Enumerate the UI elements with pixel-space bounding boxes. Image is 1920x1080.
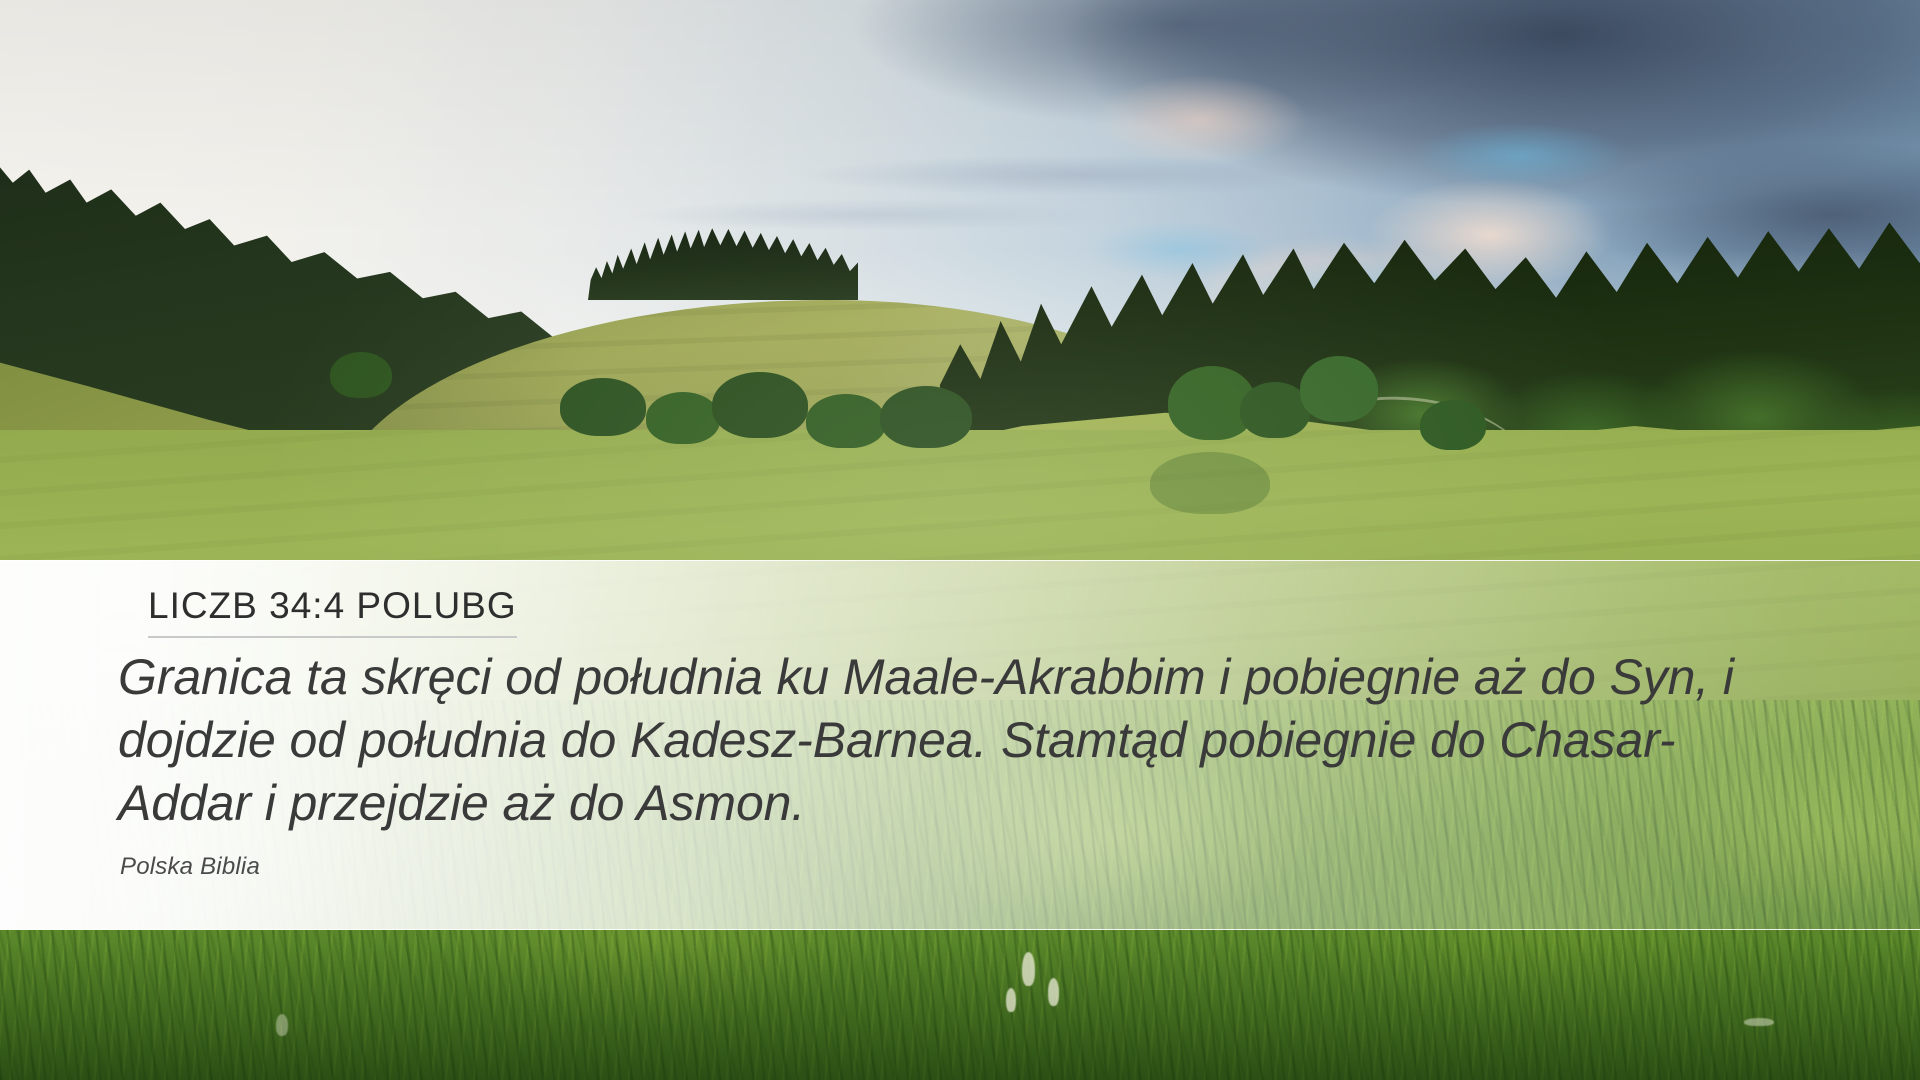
tree-clump (1300, 356, 1378, 422)
grass-seedhead (1006, 988, 1016, 1012)
grass-seedhead (276, 1014, 288, 1036)
verse-body-text: Granica ta skręci od południa ku Maale-A… (118, 646, 1778, 835)
verse-attribution: Polska Biblia (120, 853, 260, 881)
verse-overlay-panel: LICZB 34:4 POLUBG Granica ta skręci od p… (0, 560, 1920, 930)
verse-reference: LICZB 34:4 POLUBG (148, 585, 517, 638)
tree-clump (880, 386, 972, 448)
tree-clump (330, 352, 392, 398)
tree-clump (1150, 452, 1270, 514)
tree-clump (1420, 400, 1486, 450)
foreground-grass-shadow (0, 940, 1920, 1080)
tree-clump (560, 378, 646, 436)
tree-clump (646, 392, 720, 444)
verse-image-card: LICZB 34:4 POLUBG Granica ta skręci od p… (0, 0, 1920, 1080)
grass-seedhead (1022, 952, 1035, 986)
grass-seedhead (1744, 1018, 1774, 1026)
verse-content: LICZB 34:4 POLUBG Granica ta skręci od p… (118, 561, 1818, 929)
tree-clump (806, 394, 886, 448)
tree-clump (712, 372, 808, 438)
grass-seedhead (1048, 978, 1059, 1006)
